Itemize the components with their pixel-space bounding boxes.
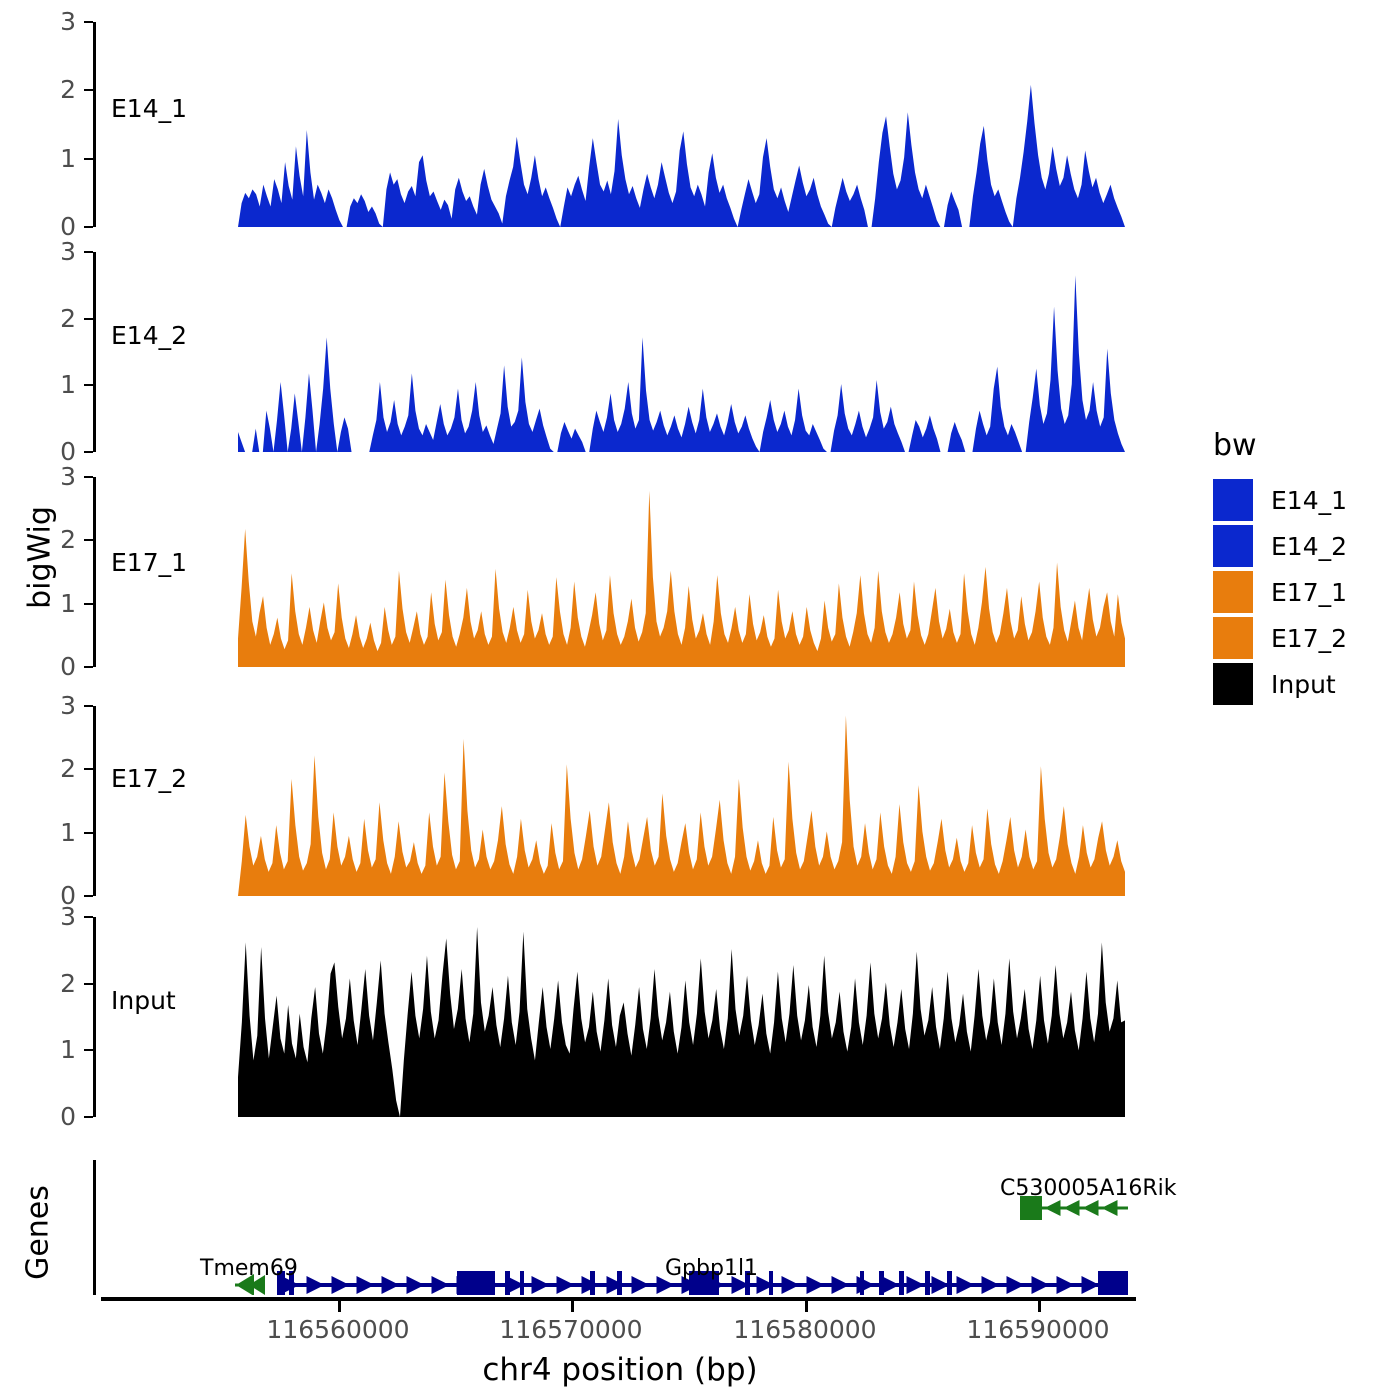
y-tick	[84, 226, 93, 228]
track-label-e14_2: E14_2	[111, 321, 187, 350]
y-tick-label: 2	[36, 77, 76, 102]
y-tick-label: 1	[36, 1037, 76, 1062]
y-tick	[84, 89, 93, 91]
y-axis-line	[93, 706, 96, 896]
x-tick-label: 116570000	[471, 1317, 671, 1342]
y-tick	[84, 451, 93, 453]
y-tick-label: 1	[36, 146, 76, 171]
x-tick	[1038, 1301, 1041, 1312]
y-tick	[84, 768, 93, 770]
y-tick-label: 3	[36, 239, 76, 264]
y-tick-label: 2	[36, 971, 76, 996]
y-tick-label: 2	[36, 527, 76, 552]
y-tick	[84, 916, 93, 918]
y-tick-label: 3	[36, 693, 76, 718]
y-tick	[84, 666, 93, 668]
y-tick-label: 2	[36, 756, 76, 781]
x-tick	[805, 1301, 808, 1312]
y-axis-line	[93, 477, 96, 667]
gene-label-tmem69: Tmem69	[200, 1256, 298, 1281]
y-axis-line	[93, 917, 96, 1117]
y-tick-label: 0	[36, 214, 76, 239]
legend-swatch	[1213, 479, 1253, 521]
y-tick	[84, 895, 93, 897]
y-tick-label: 1	[36, 591, 76, 616]
track-label-e17_1: E17_1	[111, 548, 187, 577]
x-axis-line	[101, 1297, 1136, 1301]
y-tick	[84, 384, 93, 386]
y-tick	[84, 318, 93, 320]
y-tick-label: 0	[36, 654, 76, 679]
legend-item-e17_2[interactable]: E17_2	[1213, 615, 1347, 661]
y-tick	[84, 251, 93, 253]
x-tick	[571, 1301, 574, 1312]
signal-area-e17_1	[238, 477, 1125, 667]
y-axis-line	[93, 252, 96, 452]
y-axis-line	[93, 22, 96, 227]
signal-area-e14_2	[238, 252, 1125, 452]
y-tick-label: 3	[36, 464, 76, 489]
y-tick-label: 3	[36, 9, 76, 34]
legend-item-e17_1[interactable]: E17_1	[1213, 569, 1347, 615]
legend-item-input[interactable]: Input	[1213, 661, 1347, 707]
legend-label: E17_2	[1271, 624, 1347, 653]
y-tick-label: 1	[36, 372, 76, 397]
gene-label-c530005a16rik: C530005A16Rik	[1000, 1176, 1177, 1201]
y-tick	[84, 476, 93, 478]
y-tick	[84, 983, 93, 985]
x-axis-title: chr4 position (bp)	[250, 1352, 990, 1388]
legend-item-e14_1[interactable]: E14_1	[1213, 477, 1347, 523]
x-tick-label: 116580000	[705, 1317, 905, 1342]
legend-item-e14_2[interactable]: E14_2	[1213, 523, 1347, 569]
x-tick-label: 116560000	[238, 1317, 438, 1342]
track-label-input: Input	[111, 986, 176, 1015]
signal-area-e17_2	[238, 706, 1125, 896]
y-tick-label: 0	[36, 439, 76, 464]
signal-area-e14_1	[238, 22, 1125, 227]
signal-area-input	[238, 917, 1125, 1117]
y-tick	[84, 539, 93, 541]
y-tick-label: 0	[36, 1104, 76, 1129]
genes-axis-title: Genes	[21, 1143, 56, 1323]
y-tick-label: 1	[36, 820, 76, 845]
track-label-e14_1: E14_1	[111, 94, 187, 123]
legend-label: E17_1	[1271, 578, 1347, 607]
legend-swatch	[1213, 617, 1253, 659]
legend-label: Input	[1271, 670, 1336, 699]
x-tick-label: 116590000	[938, 1317, 1138, 1342]
y-tick	[84, 1116, 93, 1118]
genes-axis-line	[93, 1160, 96, 1295]
x-tick	[338, 1301, 341, 1312]
legend-swatch	[1213, 525, 1253, 567]
legend-title: bw	[1213, 428, 1347, 463]
y-tick	[84, 705, 93, 707]
y-tick	[84, 158, 93, 160]
gene-label-gpbp1l1: Gpbp1l1	[665, 1256, 758, 1281]
y-tick	[84, 1049, 93, 1051]
legend-label: E14_2	[1271, 532, 1347, 561]
y-tick-label: 3	[36, 904, 76, 929]
y-tick-label: 2	[36, 306, 76, 331]
y-tick	[84, 21, 93, 23]
y-tick	[84, 832, 93, 834]
legend-swatch	[1213, 571, 1253, 613]
track-label-e17_2: E17_2	[111, 764, 187, 793]
legend-items: E14_1E14_2E17_1E17_2Input	[1213, 477, 1347, 707]
legend-label: E14_1	[1271, 486, 1347, 515]
legend: bw E14_1E14_2E17_1E17_2Input	[1213, 428, 1347, 707]
y-tick	[84, 603, 93, 605]
legend-swatch	[1213, 663, 1253, 705]
